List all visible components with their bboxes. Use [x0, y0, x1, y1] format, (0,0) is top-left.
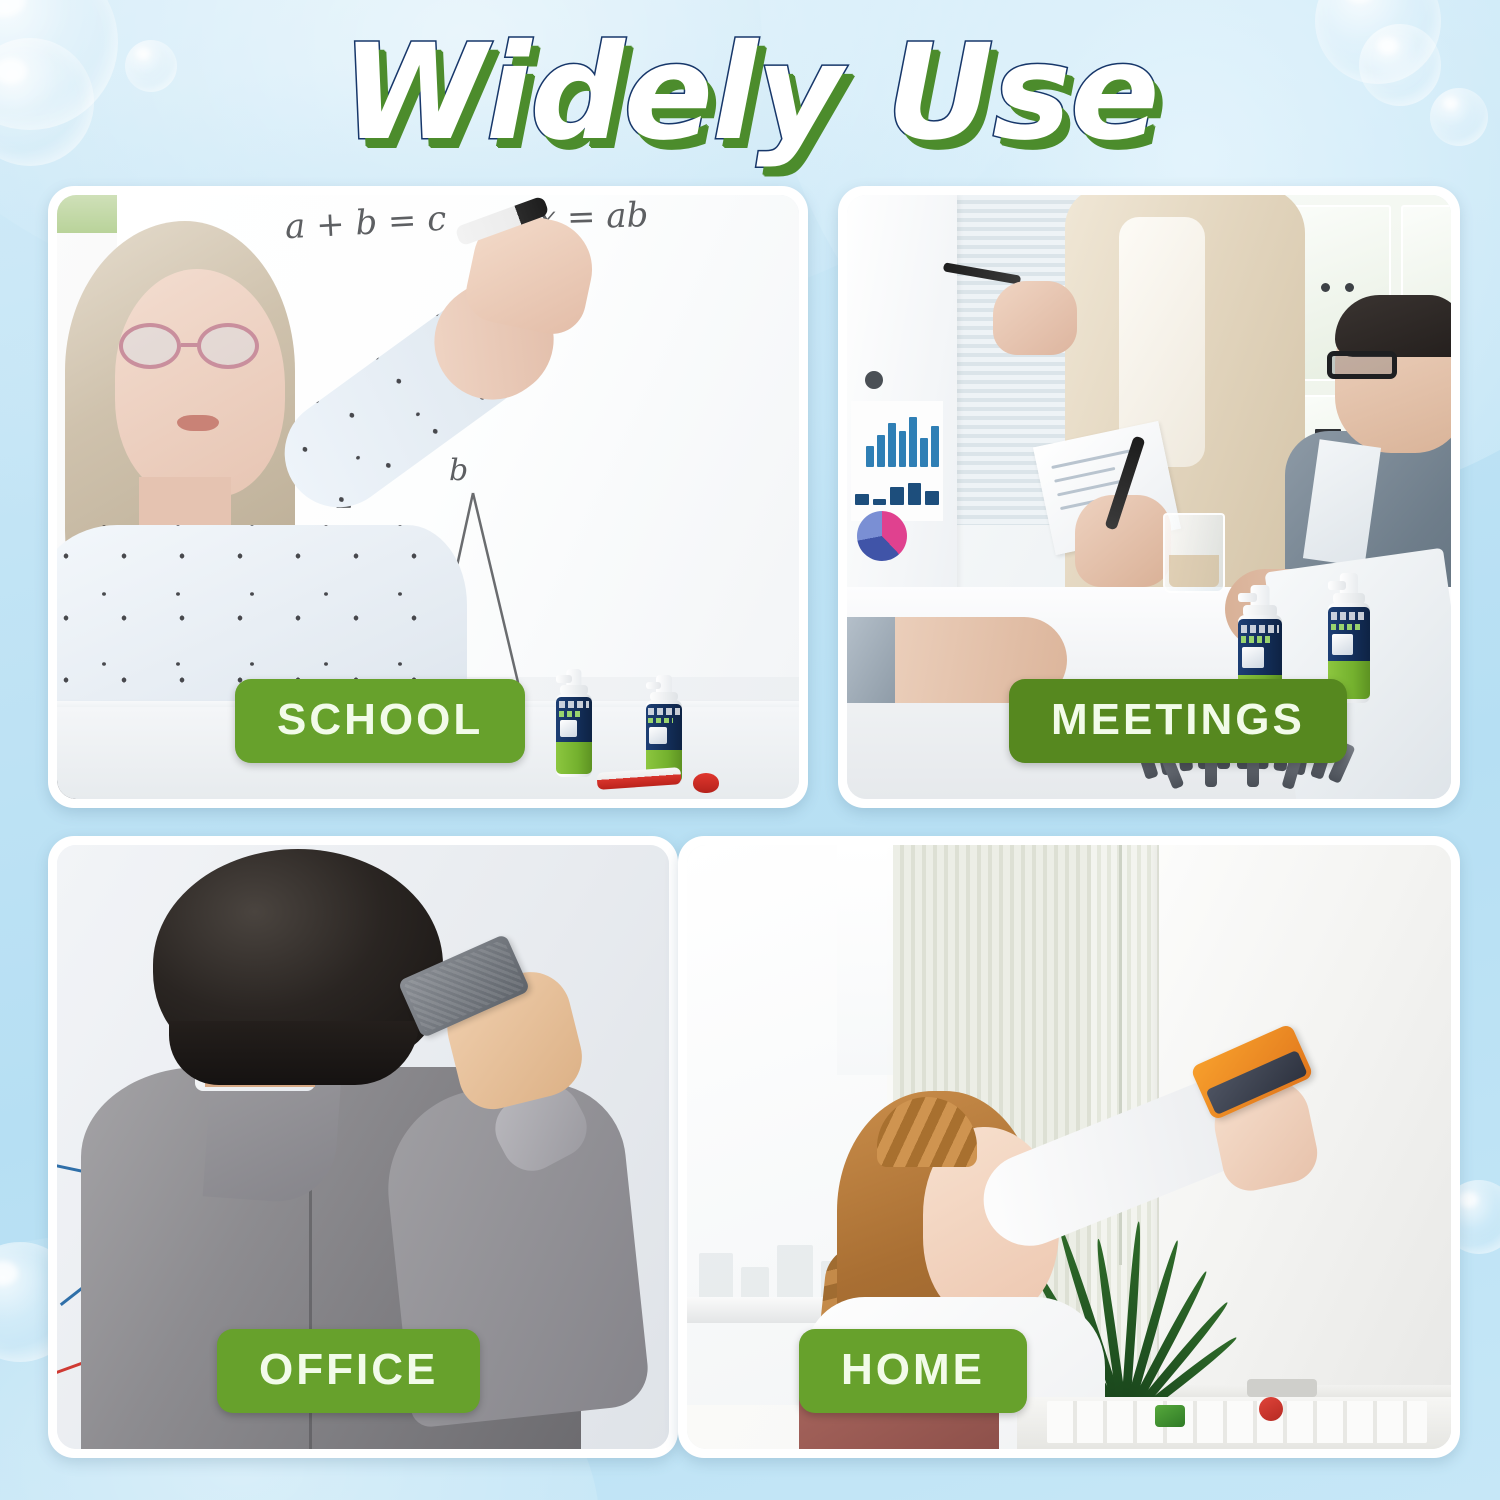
teacher-face [115, 269, 285, 497]
bottle-label-text [1331, 612, 1367, 620]
bottle-label-image [1332, 634, 1353, 655]
photo-home: HOME [687, 845, 1451, 1449]
box-grommet [1345, 283, 1354, 292]
badge-school[interactable]: SCHOOL [235, 679, 525, 763]
shirt-cuff [847, 617, 895, 703]
spray-bottle-product [554, 669, 594, 777]
papers-on-desk [1047, 1401, 1427, 1443]
whiteboard-tray-clip [1247, 1379, 1317, 1397]
pie-chart-icon [857, 511, 907, 561]
bottle-label-image [649, 727, 667, 745]
badge-meetings[interactable]: MEETINGS [1009, 679, 1347, 763]
teacher-lips [177, 415, 219, 431]
presenter-hand [993, 281, 1077, 355]
marker-cap [693, 773, 719, 793]
drinking-glass [1163, 513, 1225, 593]
panel-card-meetings: MEETINGS [838, 186, 1460, 808]
bottle-label-image [1242, 647, 1264, 668]
bottle-label-bottom [556, 742, 591, 773]
panel-card-school: a + b = c x = ab a+b 2 b c [48, 186, 808, 808]
bottle-label-subtext [559, 711, 583, 716]
eyeglasses-icon [119, 323, 279, 371]
bottle-nozzle [1328, 581, 1346, 590]
man-hair [1335, 295, 1451, 357]
bottle-label-text [648, 708, 680, 715]
page-title: Widely Use [0, 24, 1500, 163]
flipchart-magnet [865, 371, 883, 389]
photo-school: a + b = c x = ab a+b 2 b c [57, 195, 799, 799]
bottle-label-image [560, 720, 578, 737]
photo-meetings: MEETINGS [847, 195, 1451, 799]
chart-poster [851, 401, 943, 521]
bottle-nozzle [1238, 593, 1257, 602]
bar-chart-icon [855, 415, 939, 467]
bottle-nozzle [556, 675, 571, 683]
page-title-text: Widely Use [341, 24, 1158, 163]
bottle-nozzle [646, 682, 662, 690]
lens-left [119, 323, 181, 369]
triangle-label-b: b [449, 453, 468, 488]
whiteboard-equation-1: a + b = c [284, 199, 447, 247]
green-marker-cap [1155, 1405, 1185, 1427]
lens-right [197, 323, 259, 369]
presenter-hand-holding-paper [1075, 495, 1171, 587]
bottle-label-subtext [1331, 624, 1360, 631]
red-marker-cap [1259, 1397, 1283, 1421]
badge-office[interactable]: OFFICE [217, 1329, 480, 1413]
badge-home[interactable]: HOME [799, 1329, 1027, 1413]
bottle-label-subtext [1241, 636, 1271, 643]
bottle-label-subtext [648, 718, 673, 724]
panel-card-office: OFFICE [48, 836, 678, 1458]
widely-use-marketing-graphic: Widely Use a + b = c x = ab a+b 2 b c [0, 0, 1500, 1500]
bar-chart-icon-small [855, 479, 939, 505]
box-grommet [1321, 283, 1330, 292]
eyeglasses-icon [1327, 351, 1397, 379]
bottle-label-text [559, 701, 589, 707]
bottle-label-text [1241, 625, 1279, 633]
glasses-bridge [181, 343, 199, 347]
panel-card-home: HOME [678, 836, 1460, 1458]
photo-office: OFFICE [57, 845, 669, 1449]
